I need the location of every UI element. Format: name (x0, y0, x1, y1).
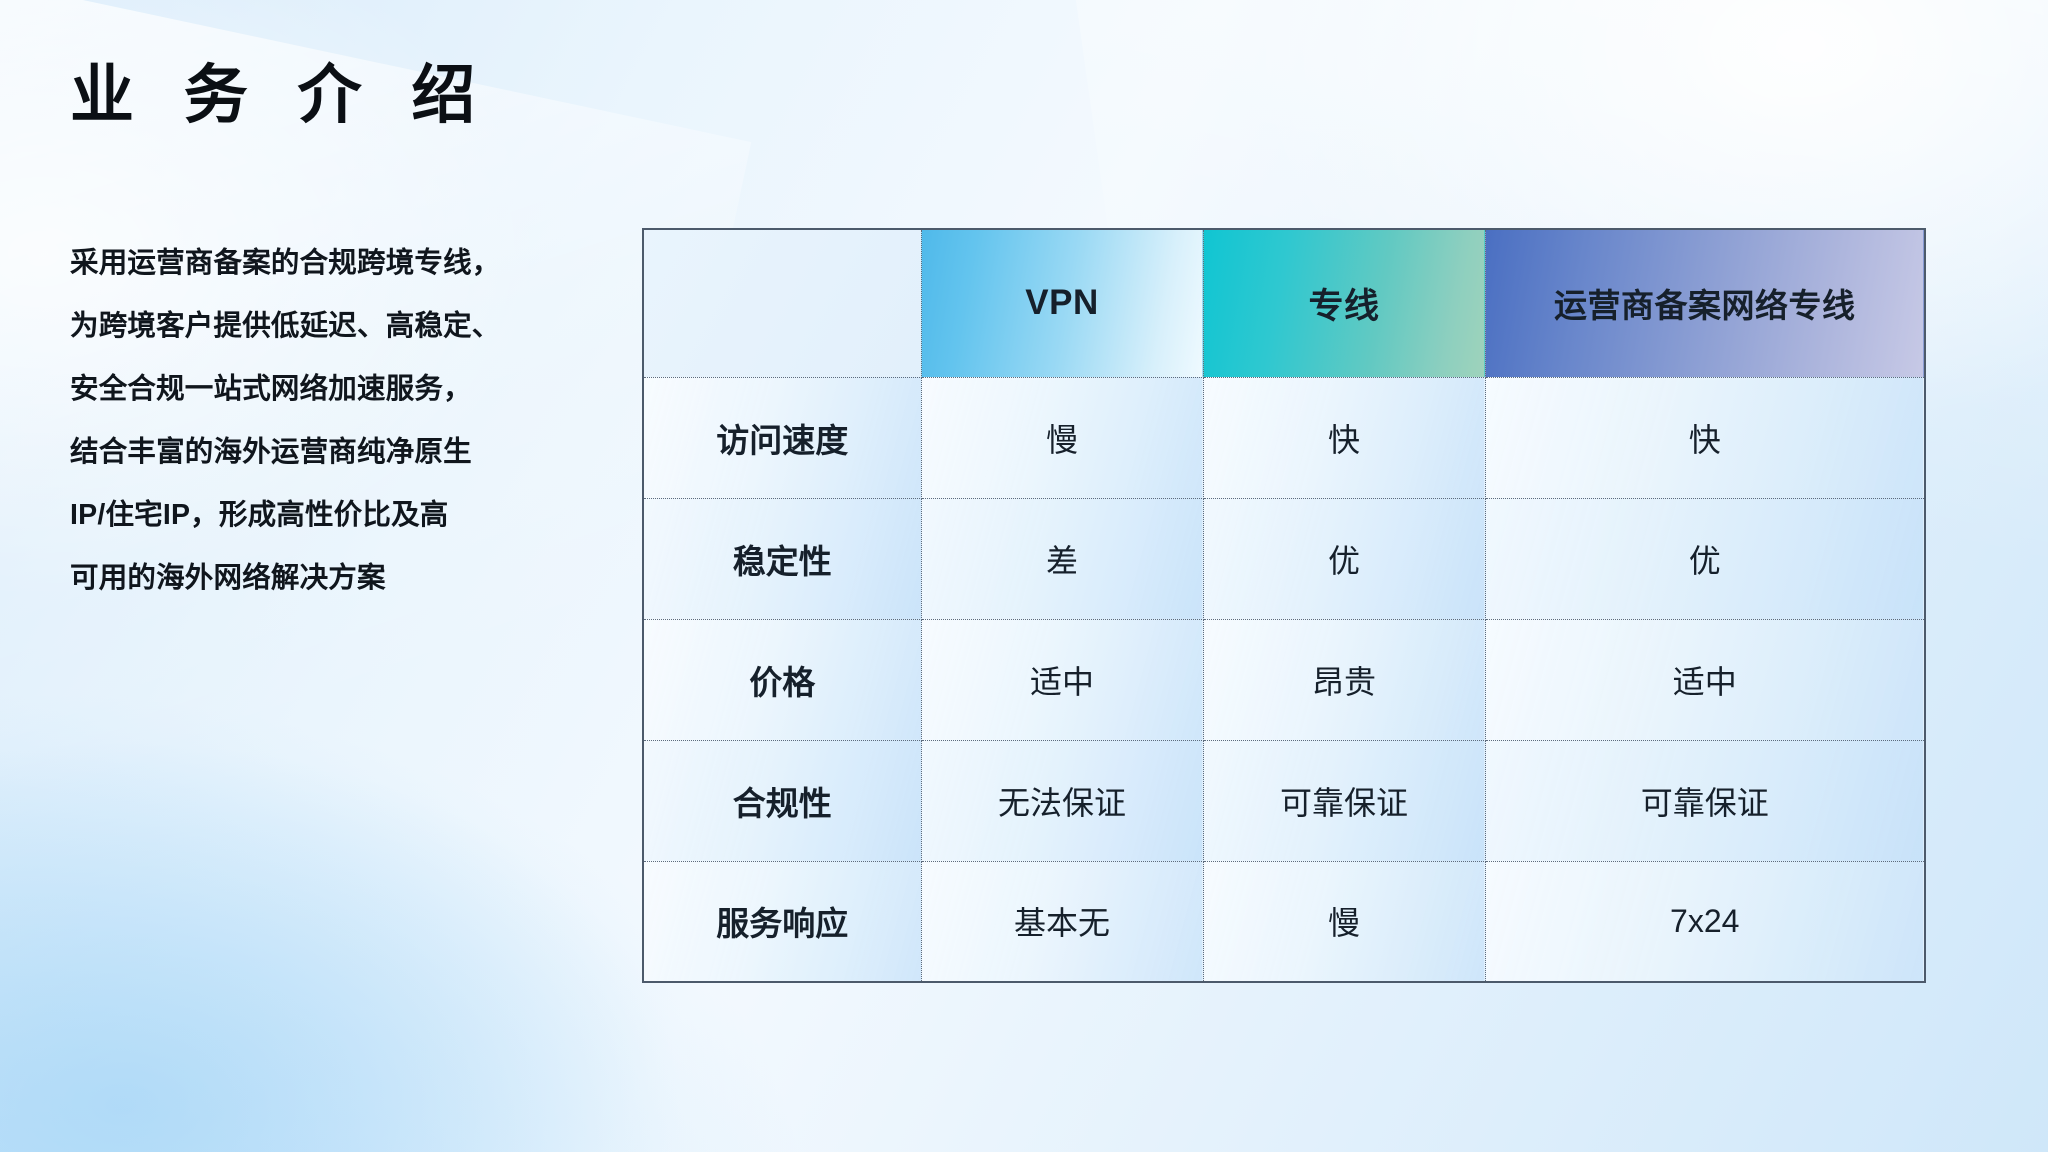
cell-line: 可靠保证 (1203, 740, 1485, 861)
cell-telecom: 快 (1485, 377, 1925, 498)
table-row: 服务响应 基本无 慢 7x24 (643, 861, 1925, 982)
row-label: 访问速度 (643, 377, 921, 498)
row-label: 稳定性 (643, 498, 921, 619)
intro-line: IP/住宅IP，形成高性价比及高 (70, 484, 630, 547)
table-header-vpn: VPN (921, 229, 1203, 377)
table-header-row: VPN 专线 运营商备案网络专线 (643, 229, 1925, 377)
comparison-table: VPN 专线 运营商备案网络专线 访问速度 慢 快 快 稳定性 差 优 优 (642, 228, 1924, 983)
row-label: 合规性 (643, 740, 921, 861)
cell-line: 优 (1203, 498, 1485, 619)
cell-telecom: 可靠保证 (1485, 740, 1925, 861)
table-header-line: 专线 (1203, 229, 1485, 377)
table-row: 访问速度 慢 快 快 (643, 377, 1925, 498)
cell-telecom: 7x24 (1485, 861, 1925, 982)
cell-line: 慢 (1203, 861, 1485, 982)
table-body: 访问速度 慢 快 快 稳定性 差 优 优 价格 适中 昂贵 适中 (643, 377, 1925, 982)
intro-line: 为跨境客户提供低延迟、高稳定、 (70, 295, 630, 358)
slide-canvas: 业 务 介 绍 采用运营商备案的合规跨境专线， 为跨境客户提供低延迟、高稳定、 … (0, 0, 2048, 1152)
row-label: 价格 (643, 619, 921, 740)
cell-vpn: 基本无 (921, 861, 1203, 982)
intro-line: 结合丰富的海外运营商纯净原生 (70, 421, 630, 484)
intro-line: 安全合规一站式网络加速服务， (70, 358, 630, 421)
row-label: 服务响应 (643, 861, 921, 982)
table-row: 价格 适中 昂贵 适中 (643, 619, 1925, 740)
page-title: 业 务 介 绍 (70, 60, 491, 130)
table-header-telecom: 运营商备案网络专线 (1485, 229, 1925, 377)
comparison-table-element: VPN 专线 运营商备案网络专线 访问速度 慢 快 快 稳定性 差 优 优 (642, 228, 1926, 983)
intro-paragraph: 采用运营商备案的合规跨境专线， 为跨境客户提供低延迟、高稳定、 安全合规一站式网… (70, 232, 630, 610)
intro-line: 可用的海外网络解决方案 (70, 547, 630, 610)
cell-vpn: 适中 (921, 619, 1203, 740)
table-row: 稳定性 差 优 优 (643, 498, 1925, 619)
cell-vpn: 无法保证 (921, 740, 1203, 861)
cell-line: 快 (1203, 377, 1485, 498)
cell-vpn: 差 (921, 498, 1203, 619)
table-header-blank (643, 229, 921, 377)
cell-telecom: 优 (1485, 498, 1925, 619)
table-row: 合规性 无法保证 可靠保证 可靠保证 (643, 740, 1925, 861)
cell-telecom: 适中 (1485, 619, 1925, 740)
cell-line: 昂贵 (1203, 619, 1485, 740)
intro-line: 采用运营商备案的合规跨境专线， (70, 232, 630, 295)
cell-vpn: 慢 (921, 377, 1203, 498)
table-header: VPN 专线 运营商备案网络专线 (643, 229, 1925, 377)
